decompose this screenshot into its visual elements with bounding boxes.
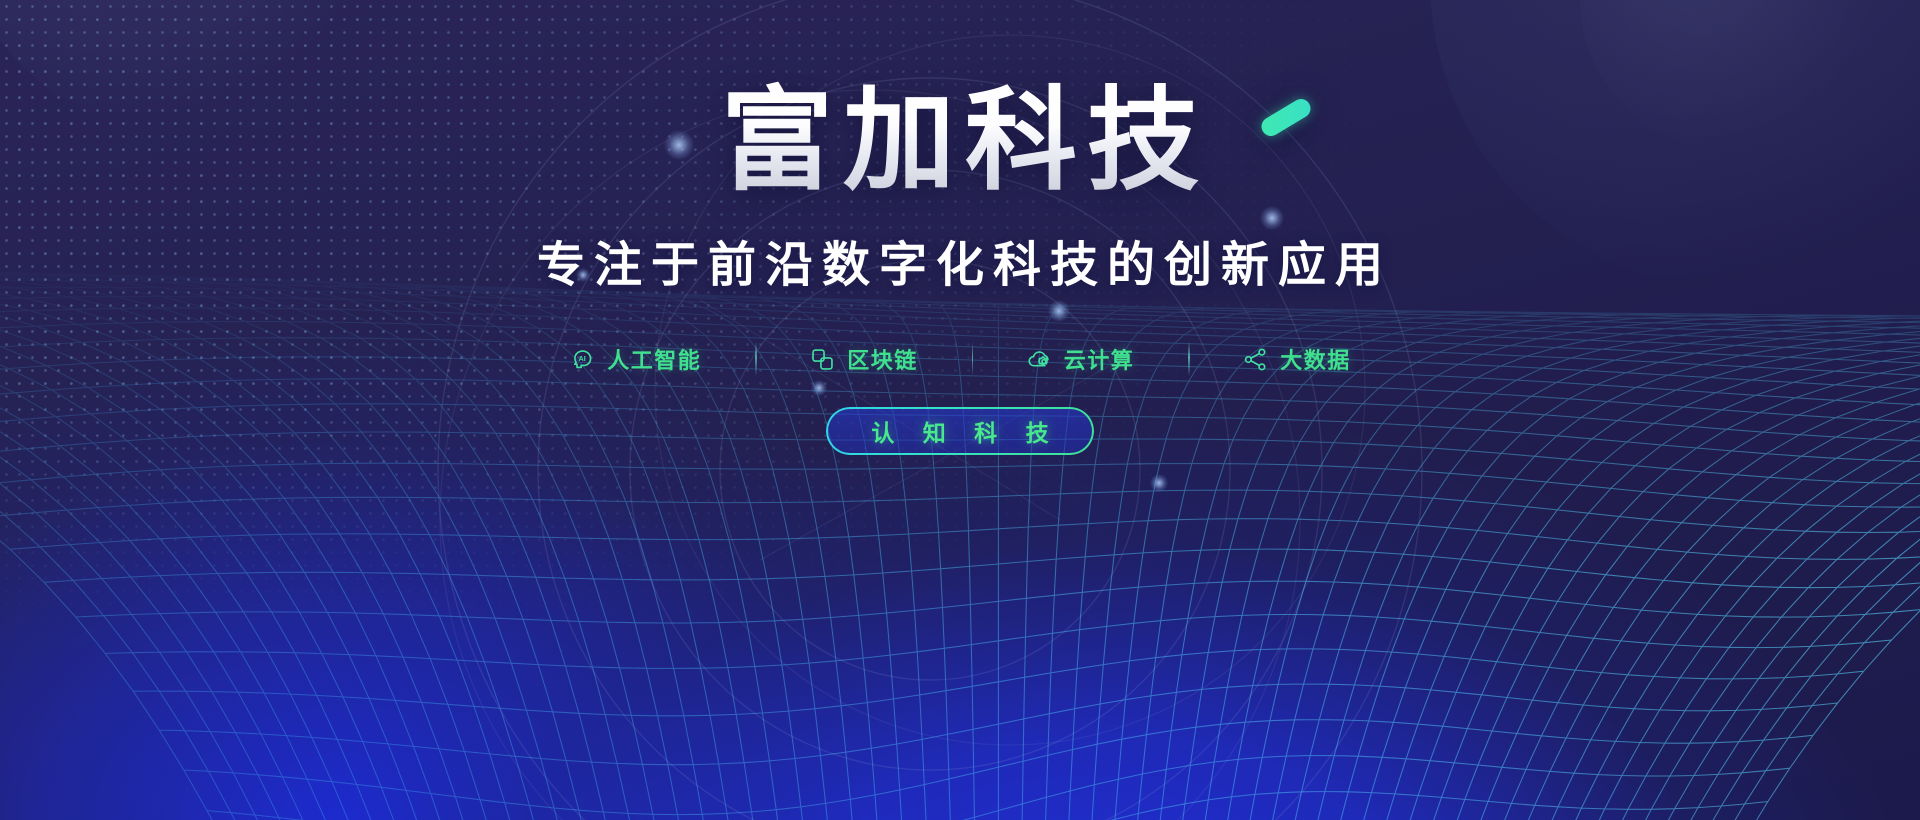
cognitive-tech-button[interactable]: 认 知 科 技 bbox=[826, 407, 1093, 455]
cloud-gear-icon bbox=[1026, 346, 1053, 373]
feature-tag-list: AI 人工智能 区块链 bbox=[515, 343, 1405, 375]
feature-tag-label: 云计算 bbox=[1064, 343, 1135, 375]
ai-head-icon: AI bbox=[569, 346, 596, 373]
brand-title-text: 富加科技 bbox=[721, 78, 1209, 203]
feature-tag-label: 大数据 bbox=[1280, 343, 1351, 375]
page-subtitle: 专注于前沿数字化科技的创新应用 bbox=[528, 225, 1392, 295]
blockchain-blocks-icon bbox=[809, 346, 836, 373]
page-title: 富加科技 bbox=[711, 78, 1209, 203]
share-nodes-icon bbox=[1242, 346, 1269, 373]
feature-tag-ai[interactable]: AI 人工智能 bbox=[515, 343, 755, 375]
cognitive-tech-button-label: 认 知 科 技 bbox=[860, 414, 1059, 448]
feature-tag-label: 人工智能 bbox=[607, 343, 701, 375]
svg-text:AI: AI bbox=[579, 354, 586, 363]
brand-accent-stroke bbox=[1258, 95, 1314, 139]
hero-banner: 富加科技 专注于前沿数字化科技的创新应用 AI 人工智能 bbox=[0, 0, 1920, 820]
feature-tag-bigdata[interactable]: 大数据 bbox=[1188, 343, 1405, 375]
hero-content: 富加科技 专注于前沿数字化科技的创新应用 AI 人工智能 bbox=[0, 0, 1920, 820]
feature-tag-cloud[interactable]: 云计算 bbox=[972, 343, 1189, 375]
feature-tag-blockchain[interactable]: 区块链 bbox=[755, 343, 972, 375]
feature-tag-label: 区块链 bbox=[847, 343, 918, 375]
